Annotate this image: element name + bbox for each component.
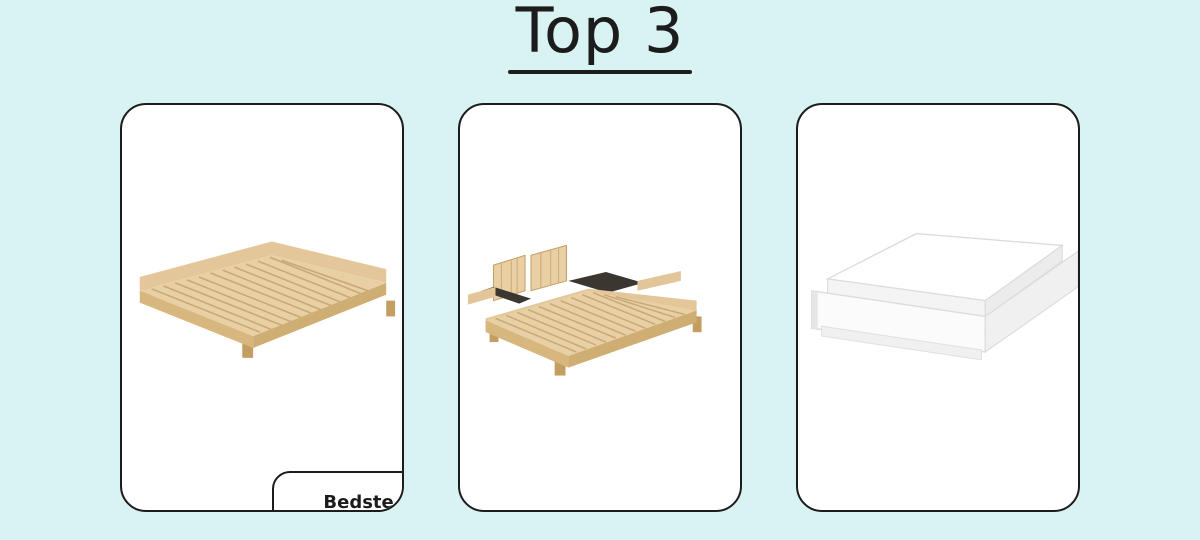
product-card-3[interactable]: Bedste Overall xyxy=(796,103,1080,512)
product-image-wooden-platform-bed-with-headboard-panels xyxy=(460,105,740,445)
product-card-list: Bedste Overall xyxy=(0,103,1200,540)
card-label-1: Bedste Overall xyxy=(272,471,404,512)
page-title: Top 3 xyxy=(0,0,1200,63)
product-image-wooden-platform-bed-slatted-no-headboard xyxy=(122,105,402,445)
product-image-white-bed-frame-with-mattress xyxy=(798,105,1078,445)
top-3-product-showcase: Top 3 xyxy=(0,0,1200,540)
product-card-1[interactable]: Bedste Overall xyxy=(120,103,404,512)
title-underline xyxy=(508,70,692,74)
product-card-2[interactable]: Bedste Overall xyxy=(458,103,742,512)
